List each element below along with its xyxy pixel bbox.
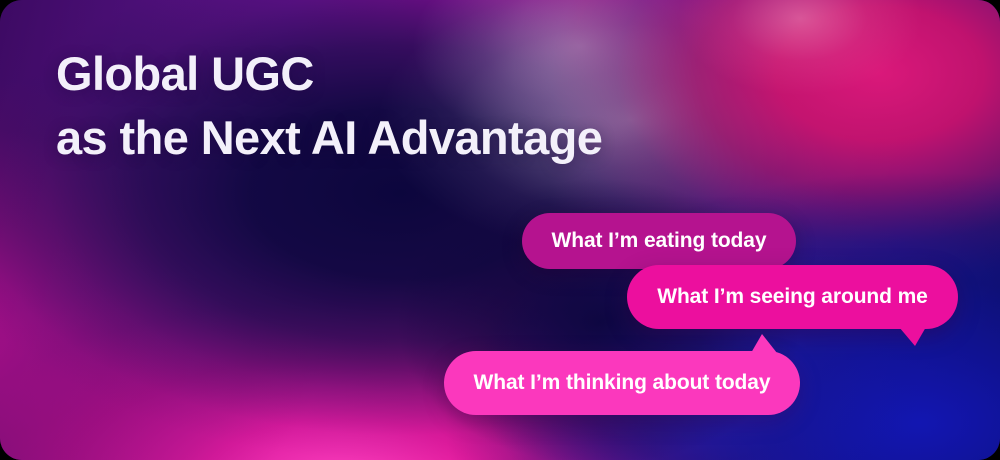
chat-bubble-tail-icon (899, 327, 926, 346)
chat-bubble-eating: What I’m eating today (522, 213, 796, 269)
promo-banner: Global UGC as the Next AI Advantage What… (0, 0, 1000, 460)
chat-bubble-tail-icon (751, 334, 777, 353)
chat-bubble-seeing: What I’m seeing around me (627, 265, 958, 329)
chat-bubble-thinking: What I’m thinking about today (444, 351, 800, 415)
page-title: Global UGC as the Next AI Advantage (56, 42, 602, 170)
chat-bubble-thinking-label: What I’m thinking about today (474, 371, 771, 395)
chat-bubble-eating-label: What I’m eating today (552, 229, 767, 253)
chat-bubble-seeing-label: What I’m seeing around me (657, 285, 928, 309)
